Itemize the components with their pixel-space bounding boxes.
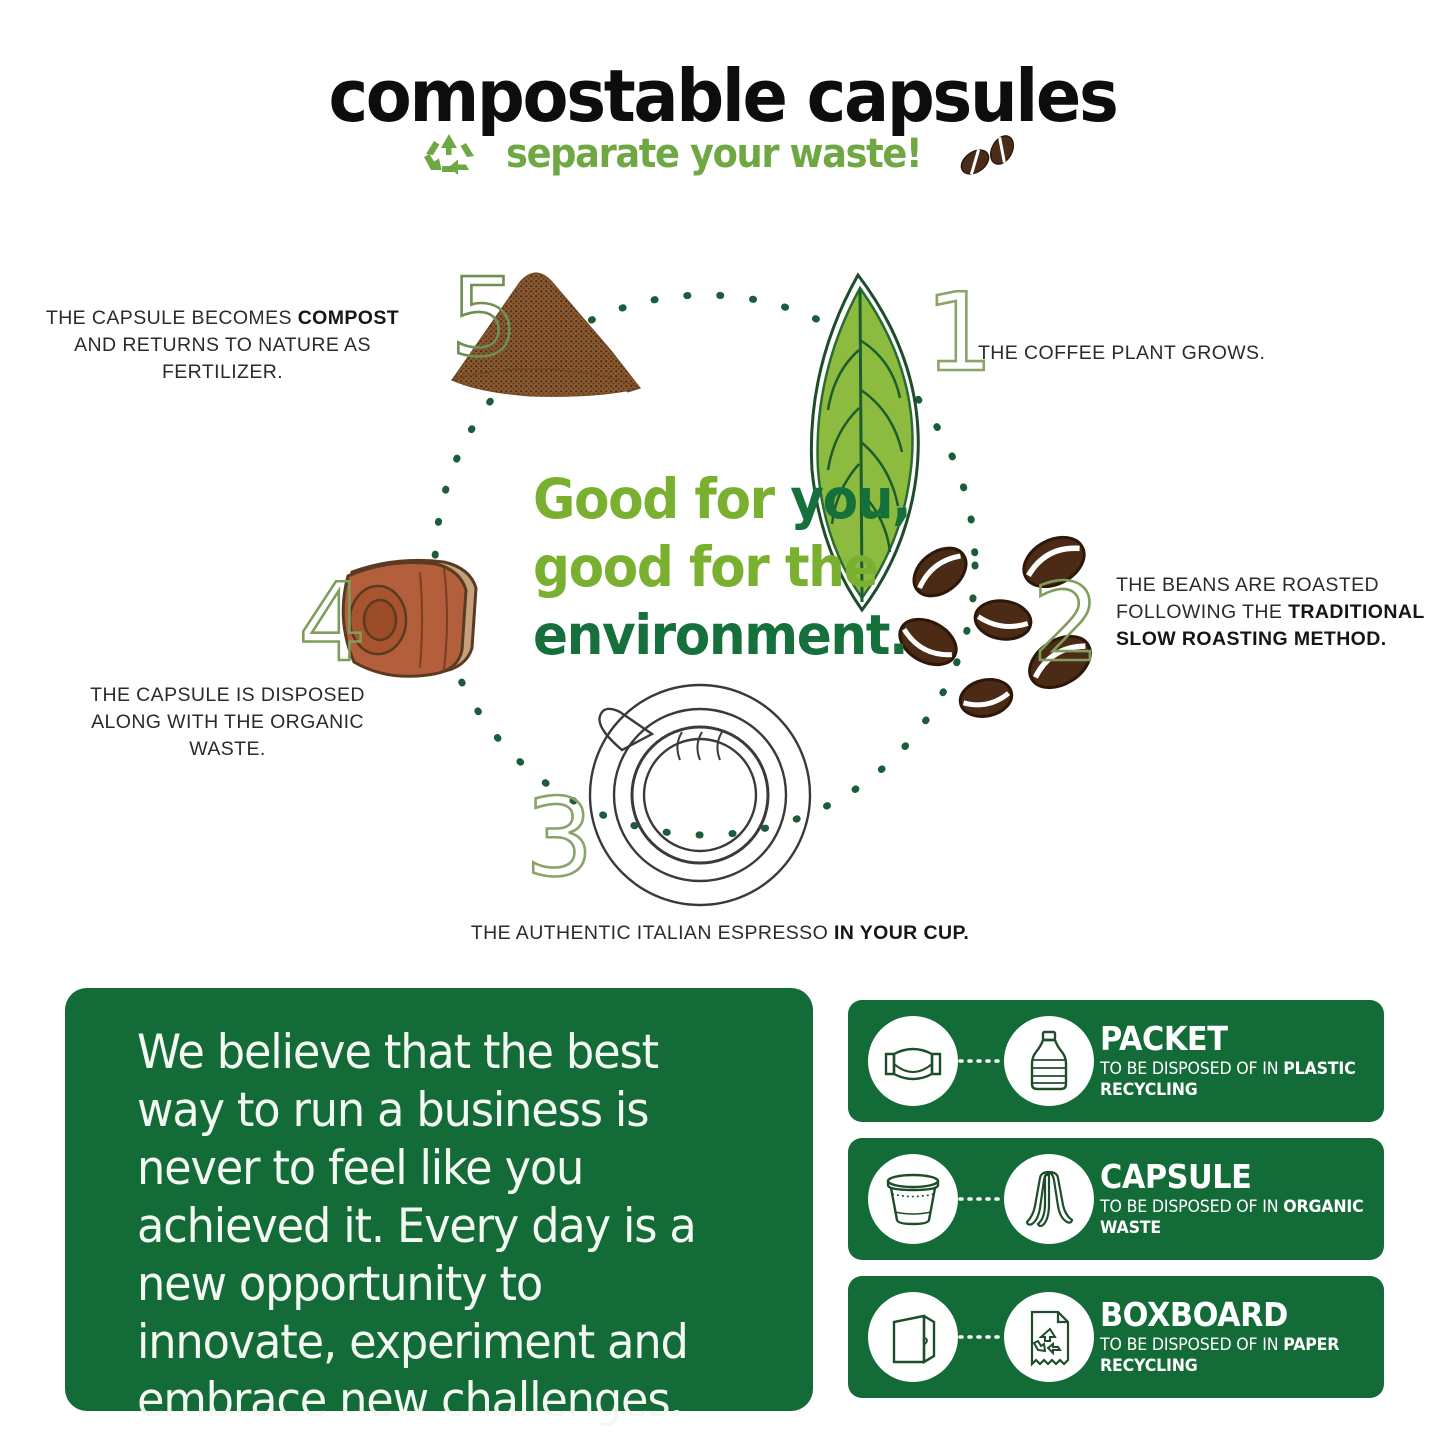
step-number-2: 2 (1032, 561, 1101, 686)
card-title: BOXBOARD (1100, 1297, 1361, 1332)
lifecycle-diagram: 5 1 (0, 220, 1445, 965)
paper-recycling-icon (1004, 1292, 1094, 1382)
step-number-5: 5 (450, 256, 519, 381)
slogan-line1-light: Good for (533, 467, 790, 531)
step-1-caption: THE COFFEE PLANT GROWS. (978, 340, 1298, 367)
disposal-card-boxboard[interactable]: BOXBOARD TO BE DISPOSED OF IN PAPER RECY… (848, 1276, 1384, 1398)
card-subtitle: TO BE DISPOSED OF IN ORGANIC WASTE (1100, 1197, 1364, 1239)
step-3-caption: THE AUTHENTIC ITALIAN ESPRESSO IN YOUR C… (430, 920, 1010, 947)
step-number-3: 3 (525, 776, 594, 901)
page-title: compostable capsules (51, 58, 1395, 134)
header-subtitle: separate your waste! (506, 131, 921, 177)
card-text: PACKET TO BE DISPOSED OF IN PLASTIC RECY… (1094, 1021, 1384, 1101)
slogan-line2-light: good for the (533, 535, 877, 599)
card-subtitle: TO BE DISPOSED OF IN PAPER RECYCLING (1100, 1335, 1364, 1377)
step-number-4: 4 (298, 561, 367, 686)
disposal-card-capsule[interactable]: CAPSULE TO BE DISPOSED OF IN ORGANIC WAS… (848, 1138, 1384, 1260)
card-icons (848, 1138, 1094, 1260)
header-subtitle-row: separate your waste! (0, 128, 1445, 180)
banana-peel-icon (1004, 1154, 1094, 1244)
quote-panel: We believe that the best way to run a bu… (65, 988, 813, 1411)
card-text: CAPSULE TO BE DISPOSED OF IN ORGANIC WAS… (1094, 1159, 1384, 1239)
slogan-line1-dark: you, (790, 467, 910, 531)
slogan-line3-dark: environment. (533, 603, 907, 667)
disposal-cards: PACKET TO BE DISPOSED OF IN PLASTIC RECY… (848, 1000, 1388, 1414)
step-4-caption: THE CAPSULE IS DISPOSED ALONG WITH THE O… (55, 682, 400, 763)
card-title: PACKET (1100, 1021, 1361, 1056)
espresso-cup-icon (590, 685, 810, 905)
card-title: CAPSULE (1100, 1159, 1361, 1194)
dotted-connector (958, 1195, 1004, 1203)
cardboard-box-icon (868, 1292, 958, 1382)
step-number-1: 1 (925, 271, 994, 396)
recycle-icon (422, 132, 478, 176)
infographic-page: compostable capsules separate your waste… (0, 0, 1445, 1445)
card-icons (848, 1276, 1094, 1398)
slogan: Good for you, good for the environment. (533, 465, 928, 669)
step-5-caption: THE CAPSULE BECOMES COMPOST AND RETURNS … (30, 305, 415, 386)
coffee-packet-icon (868, 1016, 958, 1106)
dotted-connector (958, 1057, 1004, 1065)
header: compostable capsules separate your waste… (0, 58, 1445, 180)
coffee-capsule-icon (868, 1154, 958, 1244)
card-text: BOXBOARD TO BE DISPOSED OF IN PAPER RECY… (1094, 1297, 1384, 1377)
plastic-bottle-icon (1004, 1016, 1094, 1106)
card-icons (848, 1000, 1094, 1122)
quote-text: We believe that the best way to run a bu… (137, 1024, 745, 1430)
step-2-caption: THE BEANS ARE ROASTED FOLLOWING THE TRAD… (1116, 572, 1436, 653)
card-subtitle: TO BE DISPOSED OF IN PLASTIC RECYCLING (1100, 1059, 1364, 1101)
dotted-connector (958, 1333, 1004, 1341)
disposal-card-packet[interactable]: PACKET TO BE DISPOSED OF IN PLASTIC RECY… (848, 1000, 1384, 1122)
